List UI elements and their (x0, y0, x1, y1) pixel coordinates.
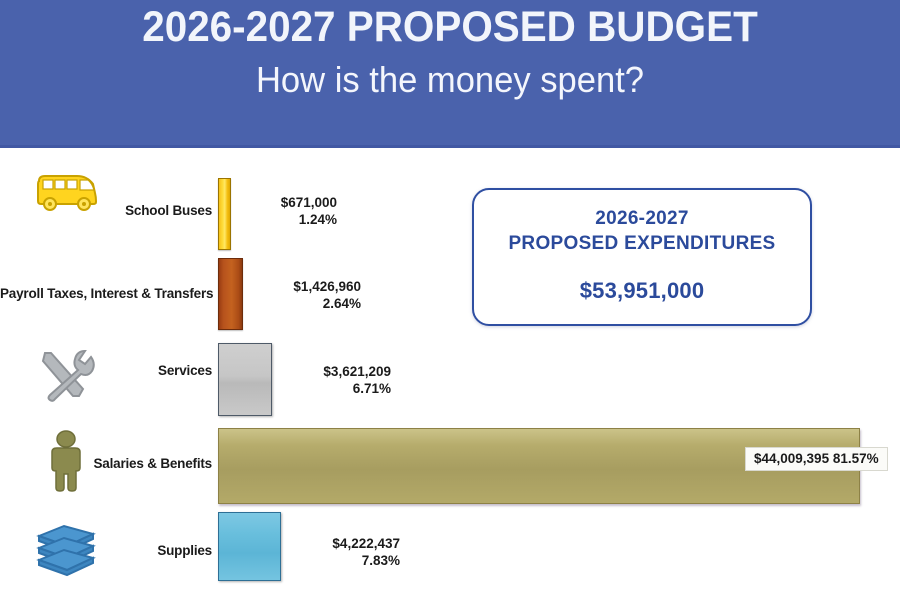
value-percent-school-buses: 1.24% (239, 211, 337, 228)
chart-row-services: Services $3,621,209 6.71% (0, 337, 900, 422)
bar-services[interactable] (218, 343, 272, 416)
value-label-salaries-benefits: $44,009,395 81.57% (745, 447, 888, 471)
chart-row-salaries-benefits: Salaries & Benefits $44,009,395 81.57% (0, 422, 900, 512)
value-label-services: $3,621,209 6.71% (279, 363, 391, 397)
value-percent-services: 6.71% (279, 380, 391, 397)
value-label-payroll-taxes: $1,426,960 2.64% (249, 278, 361, 312)
category-label-salaries-benefits: Salaries & Benefits (0, 456, 212, 471)
page-title: 2026-2027 PROPOSED BUDGET (27, 2, 873, 52)
callout-heading: PROPOSED EXPENDITURES (474, 233, 810, 255)
value-percent-payroll-taxes: 2.64% (249, 295, 361, 312)
callout-total-amount: $53,951,000 (474, 278, 810, 304)
slide-header: 2026-2027 PROPOSED BUDGET How is the mon… (0, 0, 900, 148)
value-label-school-buses: $671,000 1.24% (239, 194, 337, 228)
category-label-services: Services (0, 363, 212, 378)
chart-row-supplies: Supplies $4,222,437 7.83% (0, 512, 900, 596)
category-label-supplies: Supplies (0, 543, 212, 558)
budget-slide: 2026-2027 PROPOSED BUDGET How is the mon… (0, 0, 900, 596)
page-subtitle: How is the money spent? (18, 58, 882, 102)
value-amount-supplies: $4,222,437 (332, 536, 400, 551)
proposed-expenditures-callout: 2026-2027 PROPOSED EXPENDITURES $53,951,… (472, 188, 812, 326)
bar-supplies[interactable] (218, 512, 281, 581)
value-amount-services: $3,621,209 (323, 364, 391, 379)
value-percent-salaries-benefits: 81.57% (833, 451, 879, 466)
bar-school-buses[interactable] (218, 178, 231, 250)
value-label-supplies: $4,222,437 7.83% (288, 535, 400, 569)
category-label-school-buses: School Buses (0, 203, 212, 218)
callout-year-range: 2026-2027 (474, 208, 810, 230)
value-amount-payroll-taxes: $1,426,960 (293, 279, 361, 294)
value-percent-supplies: 7.83% (288, 552, 400, 569)
bar-payroll-taxes[interactable] (218, 258, 243, 330)
value-amount-salaries-benefits: $44,009,395 (754, 451, 829, 466)
value-amount-school-buses: $671,000 (281, 195, 337, 210)
category-label-payroll-taxes: Payroll Taxes, Interest & Transfers (0, 286, 212, 301)
